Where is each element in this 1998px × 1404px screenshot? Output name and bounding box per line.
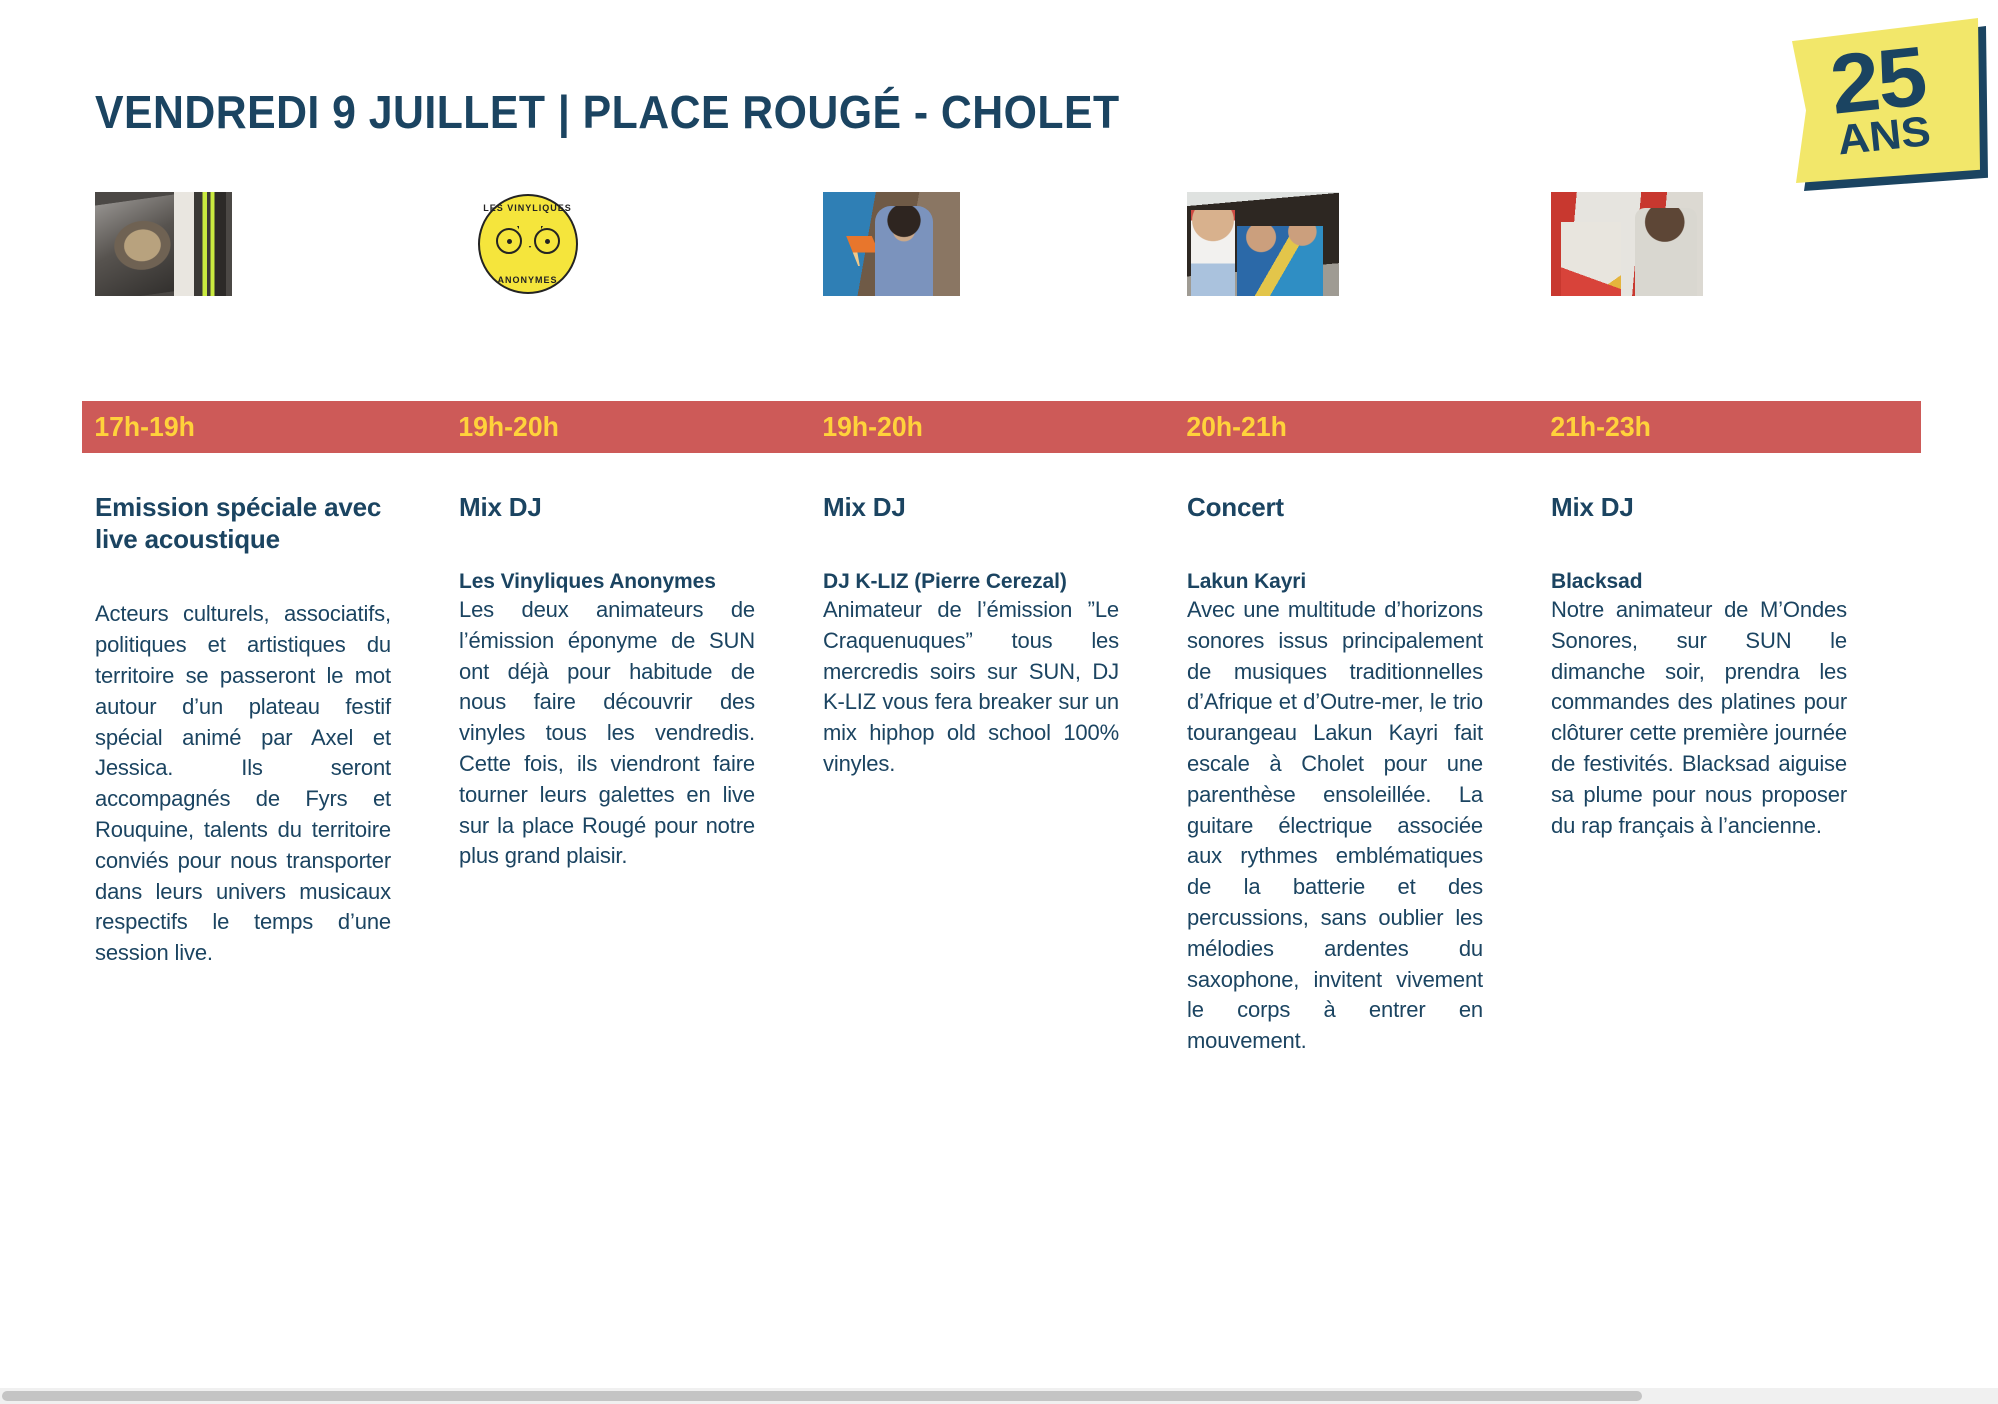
horizontal-scrollbar[interactable] <box>0 1388 1998 1404</box>
column-body: Animateur de l’émission ”Le Craquenuques… <box>823 595 1119 780</box>
logo-circle: LES VINYLIQUES ANONYMES <box>478 194 578 294</box>
thumbnail-cell-5 <box>1551 228 1915 296</box>
column-heading: Mix DJ <box>823 492 1119 524</box>
thumbnail-cell-2: LES VINYLIQUES ANONYMES <box>459 228 823 296</box>
anniversary-badge: 25 ANS <box>1780 18 1995 198</box>
time-slot-3: 19h-20h <box>810 411 1156 443</box>
blacksad-portrait-photo <box>1551 192 1703 296</box>
spacer <box>1551 524 1847 568</box>
programme-columns: Emission spéciale avec live acoustique A… <box>95 492 1975 1372</box>
thumbnail-row: LES VINYLIQUES ANONYMES <box>95 228 1915 296</box>
header: VENDREDI 9 JUILLET | PLACE ROUGÉ - CHOLE… <box>95 85 1695 145</box>
column-heading: Mix DJ <box>1551 492 1847 524</box>
thumbnail-cell-3 <box>823 228 1187 296</box>
time-slot-5: 21h-23h <box>1538 411 1884 443</box>
page-title: VENDREDI 9 JUILLET | PLACE ROUGÉ - CHOLE… <box>95 85 1583 139</box>
spacer <box>459 524 755 568</box>
thumbnail-cell-1 <box>95 228 459 296</box>
column-body: Acteurs culturels, associatifs, politiqu… <box>95 599 391 969</box>
column-body: Notre animateur de M’Ondes Sonores, sur … <box>1551 595 1847 841</box>
time-bar: 17h-19h 19h-20h 19h-20h 20h-21h 21h-23h <box>82 401 1921 453</box>
column-subtitle: Lakun Kayri <box>1187 568 1483 595</box>
badge-word: ANS <box>1835 112 1932 159</box>
programme-page: VENDREDI 9 JUILLET | PLACE ROUGÉ - CHOLE… <box>0 0 1998 1404</box>
les-vinyliques-anonymes-logo: LES VINYLIQUES ANONYMES <box>459 192 596 296</box>
spacer <box>823 524 1119 568</box>
programme-column-1: Emission spéciale avec live acoustique A… <box>95 492 459 1372</box>
time-slot-2: 19h-20h <box>446 411 792 443</box>
column-heading: Concert <box>1187 492 1483 524</box>
spacer <box>1187 524 1483 568</box>
column-heading: Mix DJ <box>459 492 755 524</box>
studio-microphone-photo <box>95 192 232 296</box>
time-slot-4: 20h-21h <box>1174 411 1520 443</box>
column-body: Avec une multitude d’horizons sonores is… <box>1187 595 1483 1057</box>
thumbnail-cell-4 <box>1187 228 1551 296</box>
nose-icon <box>517 226 539 246</box>
column-subtitle: Les Vinyliques Anonymes <box>459 568 755 595</box>
programme-column-2: Mix DJ Les Vinyliques Anonymes Les deux … <box>459 492 823 1372</box>
column-subtitle: DJ K-LIZ (Pierre Cerezal) <box>823 568 1119 595</box>
programme-column-3: Mix DJ DJ K-LIZ (Pierre Cerezal) Animate… <box>823 492 1187 1372</box>
logo-text-bottom: ANONYMES <box>480 275 576 285</box>
badge-inner: 25 ANS <box>1772 8 1988 193</box>
column-subtitle: Blacksad <box>1551 568 1847 595</box>
column-heading: Emission spéciale avec live acoustique <box>95 492 391 555</box>
trio-van-photo <box>1187 192 1339 296</box>
programme-column-5: Mix DJ Blacksad Notre animateur de M’Ond… <box>1551 492 1915 1372</box>
logo-text-top: LES VINYLIQUES <box>480 203 576 213</box>
time-slot-1: 17h-19h <box>82 411 428 443</box>
programme-column-4: Concert Lakun Kayri Avec une multitude d… <box>1187 492 1551 1372</box>
dj-turntables-photo <box>823 192 960 296</box>
scrollbar-thumb[interactable] <box>2 1391 1642 1401</box>
column-body: Les deux animateurs de l’émission éponym… <box>459 595 755 872</box>
spacer <box>95 559 391 599</box>
